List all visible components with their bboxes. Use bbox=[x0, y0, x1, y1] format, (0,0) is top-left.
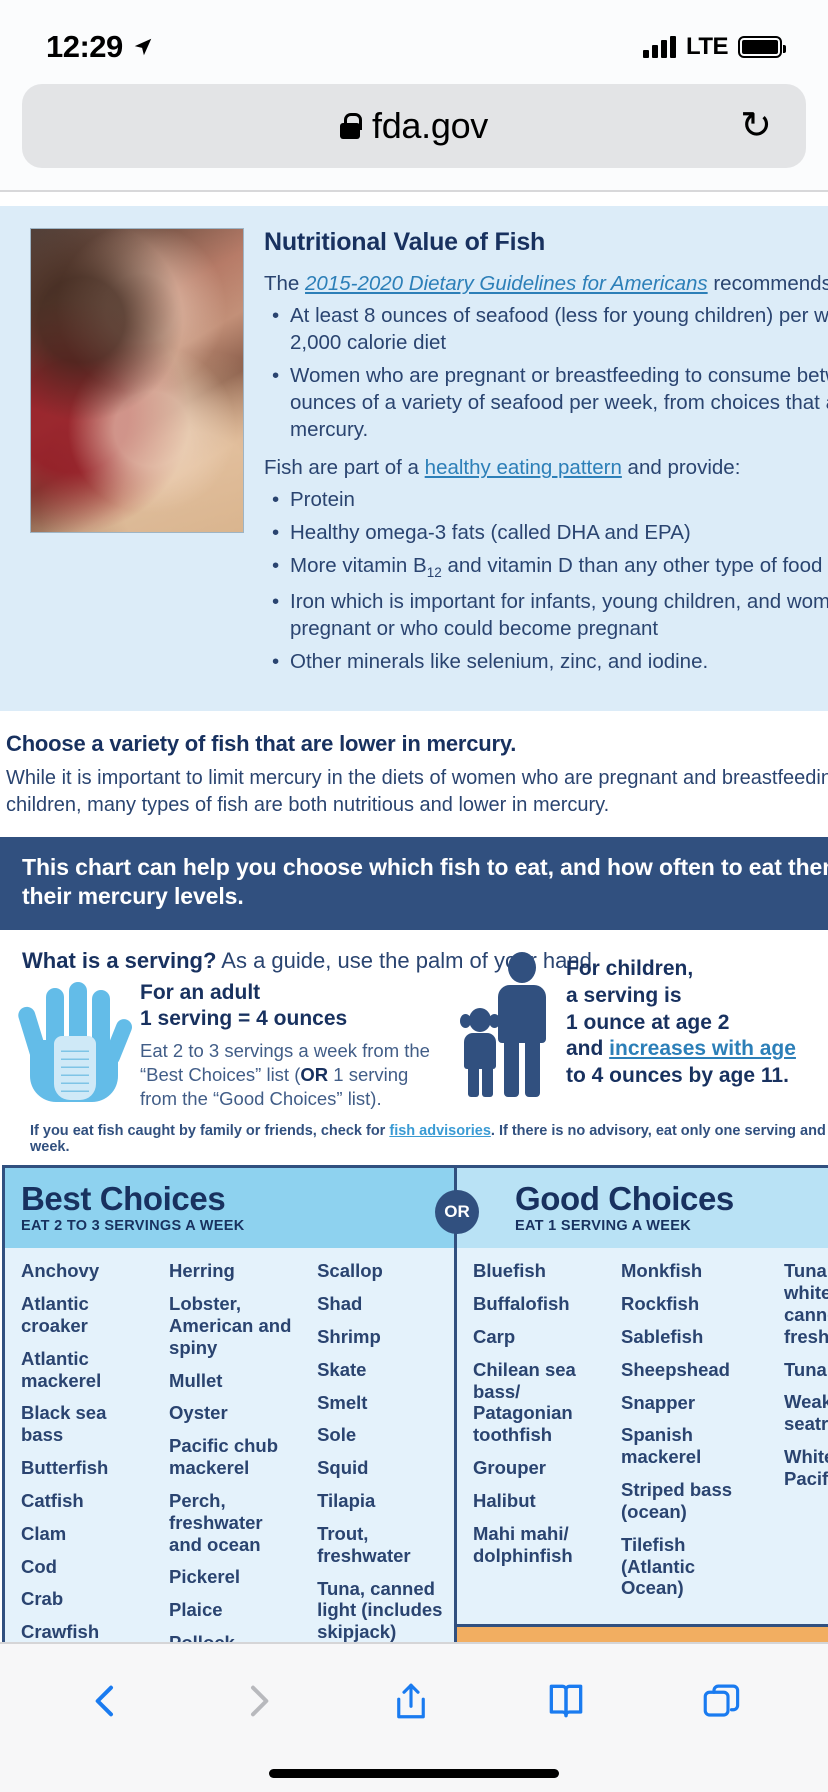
list-item: Striped bass (ocean) bbox=[621, 1479, 760, 1523]
list-item: Tuna, canned light (includes skipjack) bbox=[317, 1578, 446, 1643]
list-item: At least 8 ounces of seafood (less for y… bbox=[264, 302, 828, 356]
list-item: Oyster bbox=[169, 1402, 293, 1424]
network-label: LTE bbox=[686, 33, 728, 61]
adult-detail-or: OR bbox=[300, 1064, 328, 1085]
home-indicator bbox=[269, 1769, 559, 1778]
list-item: Atlantic croaker bbox=[21, 1293, 145, 1337]
provides-list: Protein Healthy omega-3 fats (called DHA… bbox=[264, 486, 828, 675]
healthy-eating-pattern-link[interactable]: healthy eating pattern bbox=[425, 456, 622, 479]
nutritional-value-body: Nutritional Value of Fish The 2015-2020 … bbox=[264, 228, 828, 687]
list-item: More vitamin B12 and vitamin D than any … bbox=[264, 552, 828, 582]
list-item: Skate bbox=[317, 1359, 446, 1381]
list-item: Sheepshead bbox=[621, 1359, 760, 1381]
healthy-pattern-intro: Fish are part of a healthy eating patter… bbox=[264, 454, 828, 481]
good-column-2: MonkfishRockfishSablefishSheepsheadSnapp… bbox=[605, 1260, 768, 1610]
list-item: Mullet bbox=[169, 1370, 293, 1392]
list-item: Cod bbox=[21, 1556, 145, 1578]
list-item: Tilapia bbox=[317, 1490, 446, 1512]
list-item: Scallop bbox=[317, 1260, 446, 1282]
list-item: Plaice bbox=[169, 1599, 293, 1621]
dietary-guidelines-link[interactable]: 2015-2020 Dietary Guidelines for America… bbox=[305, 272, 708, 295]
list-item: Crawfish bbox=[21, 1621, 145, 1643]
child-line3: 1 ounce at age 2 bbox=[566, 1011, 729, 1034]
list-item: Trout, freshwater bbox=[317, 1523, 446, 1567]
list-item: Women who are pregnant or breastfeeding … bbox=[264, 362, 828, 443]
adult-detail-2: “Best Choices” list ( bbox=[140, 1064, 300, 1085]
best-choices-header: Best Choices EAT 2 TO 3 SERVINGS A WEEK bbox=[5, 1168, 454, 1249]
list-item: Monkfish bbox=[621, 1260, 760, 1282]
nutritional-value-panel: Nutritional Value of Fish The 2015-2020 … bbox=[0, 206, 828, 711]
good-column-1: BluefishBuffalofishCarpChilean sea bass/… bbox=[457, 1260, 605, 1610]
list-item: Anchovy bbox=[21, 1260, 145, 1282]
list-item: Pickerel bbox=[169, 1566, 293, 1588]
recommendation-list: At least 8 ounces of seafood (less for y… bbox=[264, 302, 828, 443]
list-item: Rockfish bbox=[621, 1293, 760, 1315]
list-item: Chilean sea bass/ Patagonian toothfish bbox=[473, 1359, 597, 1446]
list-item: Spanish mackerel bbox=[621, 1424, 760, 1468]
lock-icon bbox=[340, 113, 360, 139]
list-item: Shrimp bbox=[317, 1326, 446, 1348]
adult-and-child-icon bbox=[460, 952, 552, 1097]
child-line4-pre: and bbox=[566, 1037, 609, 1060]
list-item: Clam bbox=[21, 1523, 145, 1545]
family-eating-fish-photo bbox=[30, 228, 244, 533]
forward-button[interactable] bbox=[238, 1678, 278, 1724]
serving-size-section: What is a serving? As a guide, use the p… bbox=[0, 930, 828, 1110]
list-item: Butterfish bbox=[21, 1457, 145, 1479]
battery-full-icon bbox=[738, 36, 782, 58]
list-item: Atlantic mackerel bbox=[21, 1348, 145, 1392]
good-choices-body: BluefishBuffalofishCarpChilean sea bass/… bbox=[457, 1248, 828, 1624]
banner-text: This chart can help you choose which fis… bbox=[22, 853, 828, 913]
list-item: Lobster, American and spiny bbox=[169, 1293, 293, 1358]
intro-pre: The bbox=[264, 272, 305, 295]
second-post: and provide: bbox=[622, 456, 741, 479]
status-bar-left: 12:29 bbox=[46, 29, 154, 65]
list-item: Iron which is important for infants, you… bbox=[264, 588, 828, 642]
list-item: Smelt bbox=[317, 1392, 446, 1414]
list-item: Mahi mahi/ dolphinfish bbox=[473, 1523, 597, 1567]
good-choices-header: OR Good Choices EAT 1 SERVING A WEEK bbox=[457, 1168, 828, 1249]
hand-palm-fish-icon bbox=[22, 980, 130, 1105]
list-item: Perch, freshwater and ocean bbox=[169, 1490, 293, 1555]
intro-post: recommends: bbox=[708, 272, 828, 295]
address-bar-area: fda.gov ↻ bbox=[0, 80, 828, 190]
list-item: Other minerals like selenium, zinc, and … bbox=[264, 648, 828, 675]
fish-advisory-note: If you eat fish caught by family or frie… bbox=[0, 1111, 828, 1165]
list-item: Sole bbox=[317, 1424, 446, 1446]
list-item: Crab bbox=[21, 1588, 145, 1610]
adult-detail-3: 1 serving bbox=[328, 1064, 408, 1085]
list-item: Halibut bbox=[473, 1490, 597, 1512]
advisory-pre: If you eat fish caught by family or frie… bbox=[30, 1123, 389, 1139]
safari-window: 12:29 LTE fda.gov ↻ Nutritional Value of… bbox=[0, 0, 828, 1792]
status-bar-right: LTE bbox=[643, 33, 782, 61]
list-item: Black sea bass bbox=[21, 1402, 145, 1446]
clock: 12:29 bbox=[46, 29, 123, 65]
url-text: fda.gov bbox=[372, 105, 488, 147]
child-line5: to 4 ounces by age 11. bbox=[566, 1064, 789, 1087]
list-item: Healthy omega-3 fats (called DHA and EPA… bbox=[264, 519, 828, 546]
signal-bars-icon bbox=[643, 36, 676, 58]
child-serving-block: For children, a serving is 1 ounce at ag… bbox=[460, 952, 710, 1097]
list-item: Grouper bbox=[473, 1457, 597, 1479]
list-item: Weakfish/ seatrout bbox=[784, 1391, 828, 1435]
list-item: Bluefish bbox=[473, 1260, 597, 1282]
back-button[interactable] bbox=[86, 1678, 126, 1724]
list-item: Squid bbox=[317, 1457, 446, 1479]
status-bar: 12:29 LTE bbox=[0, 0, 828, 80]
list-item: Buffalofish bbox=[473, 1293, 597, 1315]
list-item: Shad bbox=[317, 1293, 446, 1315]
reload-icon[interactable]: ↻ bbox=[740, 107, 772, 145]
list-item: Snapper bbox=[621, 1392, 760, 1414]
mercury-intro-section: Choose a variety of fish that are lower … bbox=[0, 711, 828, 819]
adult-detail-1: Eat 2 to 3 servings a week from the bbox=[140, 1040, 430, 1061]
increases-with-age-link[interactable]: increases with age bbox=[609, 1037, 796, 1060]
list-item: Herring bbox=[169, 1260, 293, 1282]
location-arrow-icon bbox=[132, 36, 154, 58]
list-item: Catfish bbox=[21, 1490, 145, 1512]
list-item: Tuna, yellowfin bbox=[784, 1359, 828, 1381]
web-content-scroll[interactable]: Nutritional Value of Fish The 2015-2020 … bbox=[0, 192, 828, 1792]
fda-fish-advice-page: Nutritional Value of Fish The 2015-2020 … bbox=[0, 206, 828, 1792]
mercury-heading: Choose a variety of fish that are lower … bbox=[6, 731, 828, 757]
address-bar[interactable]: fda.gov ↻ bbox=[22, 84, 806, 168]
page-title: Nutritional Value of Fish bbox=[264, 228, 828, 257]
bookmarks-button[interactable] bbox=[544, 1677, 588, 1725]
second-pre: Fish are part of a bbox=[264, 456, 425, 479]
list-item: White croaker/ Pacific croaker bbox=[784, 1446, 828, 1490]
child-line2: a serving is bbox=[566, 984, 682, 1007]
good-choices-list: BluefishBuffalofishCarpChilean sea bass/… bbox=[457, 1248, 828, 1624]
best-choices-title: Best Choices bbox=[21, 1182, 440, 1216]
chart-intro-banner: This chart can help you choose which fis… bbox=[0, 837, 828, 931]
list-item: Tilefish (Atlantic Ocean) bbox=[621, 1534, 760, 1599]
share-button[interactable] bbox=[390, 1677, 432, 1725]
best-choices-subtitle: EAT 2 TO 3 SERVINGS A WEEK bbox=[21, 1218, 440, 1234]
child-serving-text: For children, a serving is 1 ounce at ag… bbox=[566, 952, 796, 1097]
list-item: Protein bbox=[264, 486, 828, 513]
good-choices-subtitle: EAT 1 SERVING A WEEK bbox=[515, 1218, 828, 1234]
list-item: Tuna, albacore/ white tuna, canned and f… bbox=[784, 1260, 828, 1347]
serving-question-bold: What is a serving? bbox=[22, 948, 216, 973]
mercury-body: While it is important to limit mercury i… bbox=[6, 765, 828, 819]
tabs-button[interactable] bbox=[700, 1677, 742, 1725]
adult-detail-4: from the “Good Choices” list). bbox=[140, 1088, 382, 1109]
list-item: Sablefish bbox=[621, 1326, 760, 1348]
dietary-guidelines-intro: The 2015-2020 Dietary Guidelines for Ame… bbox=[264, 270, 828, 297]
good-choices-title: Good Choices bbox=[515, 1182, 828, 1216]
list-item: Carp bbox=[473, 1326, 597, 1348]
fish-advisories-link[interactable]: fish advisories bbox=[389, 1123, 491, 1139]
good-column-3: Tuna, albacore/ white tuna, canned and f… bbox=[768, 1260, 828, 1610]
list-item: Pacific chub mackerel bbox=[169, 1435, 293, 1479]
or-badge: OR bbox=[435, 1190, 479, 1234]
child-line1: For children, bbox=[566, 957, 693, 980]
